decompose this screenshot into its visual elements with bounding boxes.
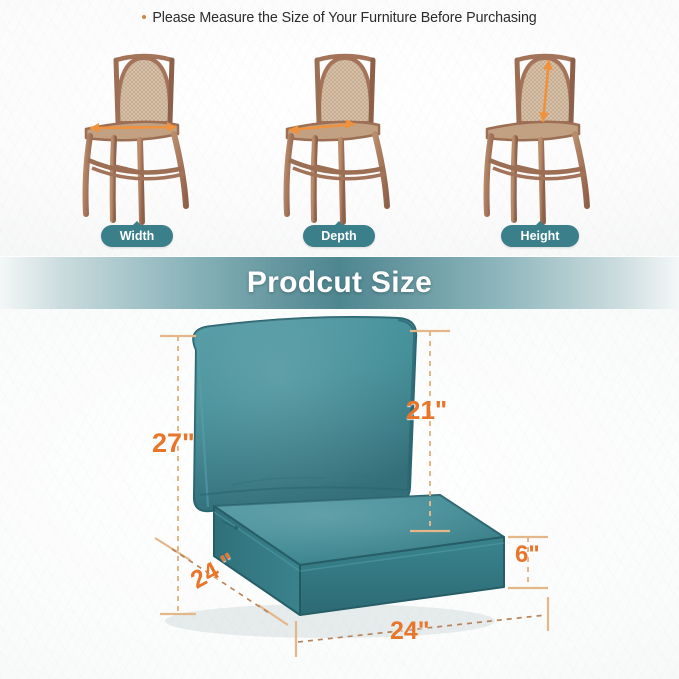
- badge-height[interactable]: Height: [501, 225, 579, 247]
- chair-illustration-height: [463, 48, 623, 248]
- product-size-section: 6 Inches: [0, 309, 679, 679]
- chair-illustration-width: [62, 48, 222, 248]
- chair-illustration-depth: [263, 48, 423, 248]
- dim-label-seat-width: 24": [390, 617, 430, 646]
- dim-label-back-height: 21": [406, 395, 447, 426]
- banner-title: Prodcut Size: [0, 257, 679, 309]
- infographic-page: Please Measure the Size of Your Furnitur…: [0, 0, 679, 679]
- back-cushion: [193, 317, 416, 511]
- headline: Please Measure the Size of Your Furnitur…: [0, 10, 679, 26]
- chair-svg-width: [62, 48, 222, 230]
- cushion-illustration: [0, 309, 679, 679]
- seat-cushion: [214, 495, 504, 615]
- chair-svg-height: [463, 48, 623, 230]
- badge-depth[interactable]: Depth: [303, 225, 375, 247]
- headline-text: Please Measure the Size of Your Furnitur…: [152, 10, 536, 26]
- dim-label-seat-thickness: 6": [515, 541, 540, 569]
- measure-instruction-section: Please Measure the Size of Your Furnitur…: [0, 0, 679, 256]
- badge-width[interactable]: Width: [101, 225, 173, 247]
- dim-label-overall-height: 27": [152, 428, 195, 459]
- section-banner: Prodcut Size: [0, 257, 679, 309]
- bullet-dot-icon: [142, 15, 146, 19]
- chair-svg-depth: [263, 48, 423, 230]
